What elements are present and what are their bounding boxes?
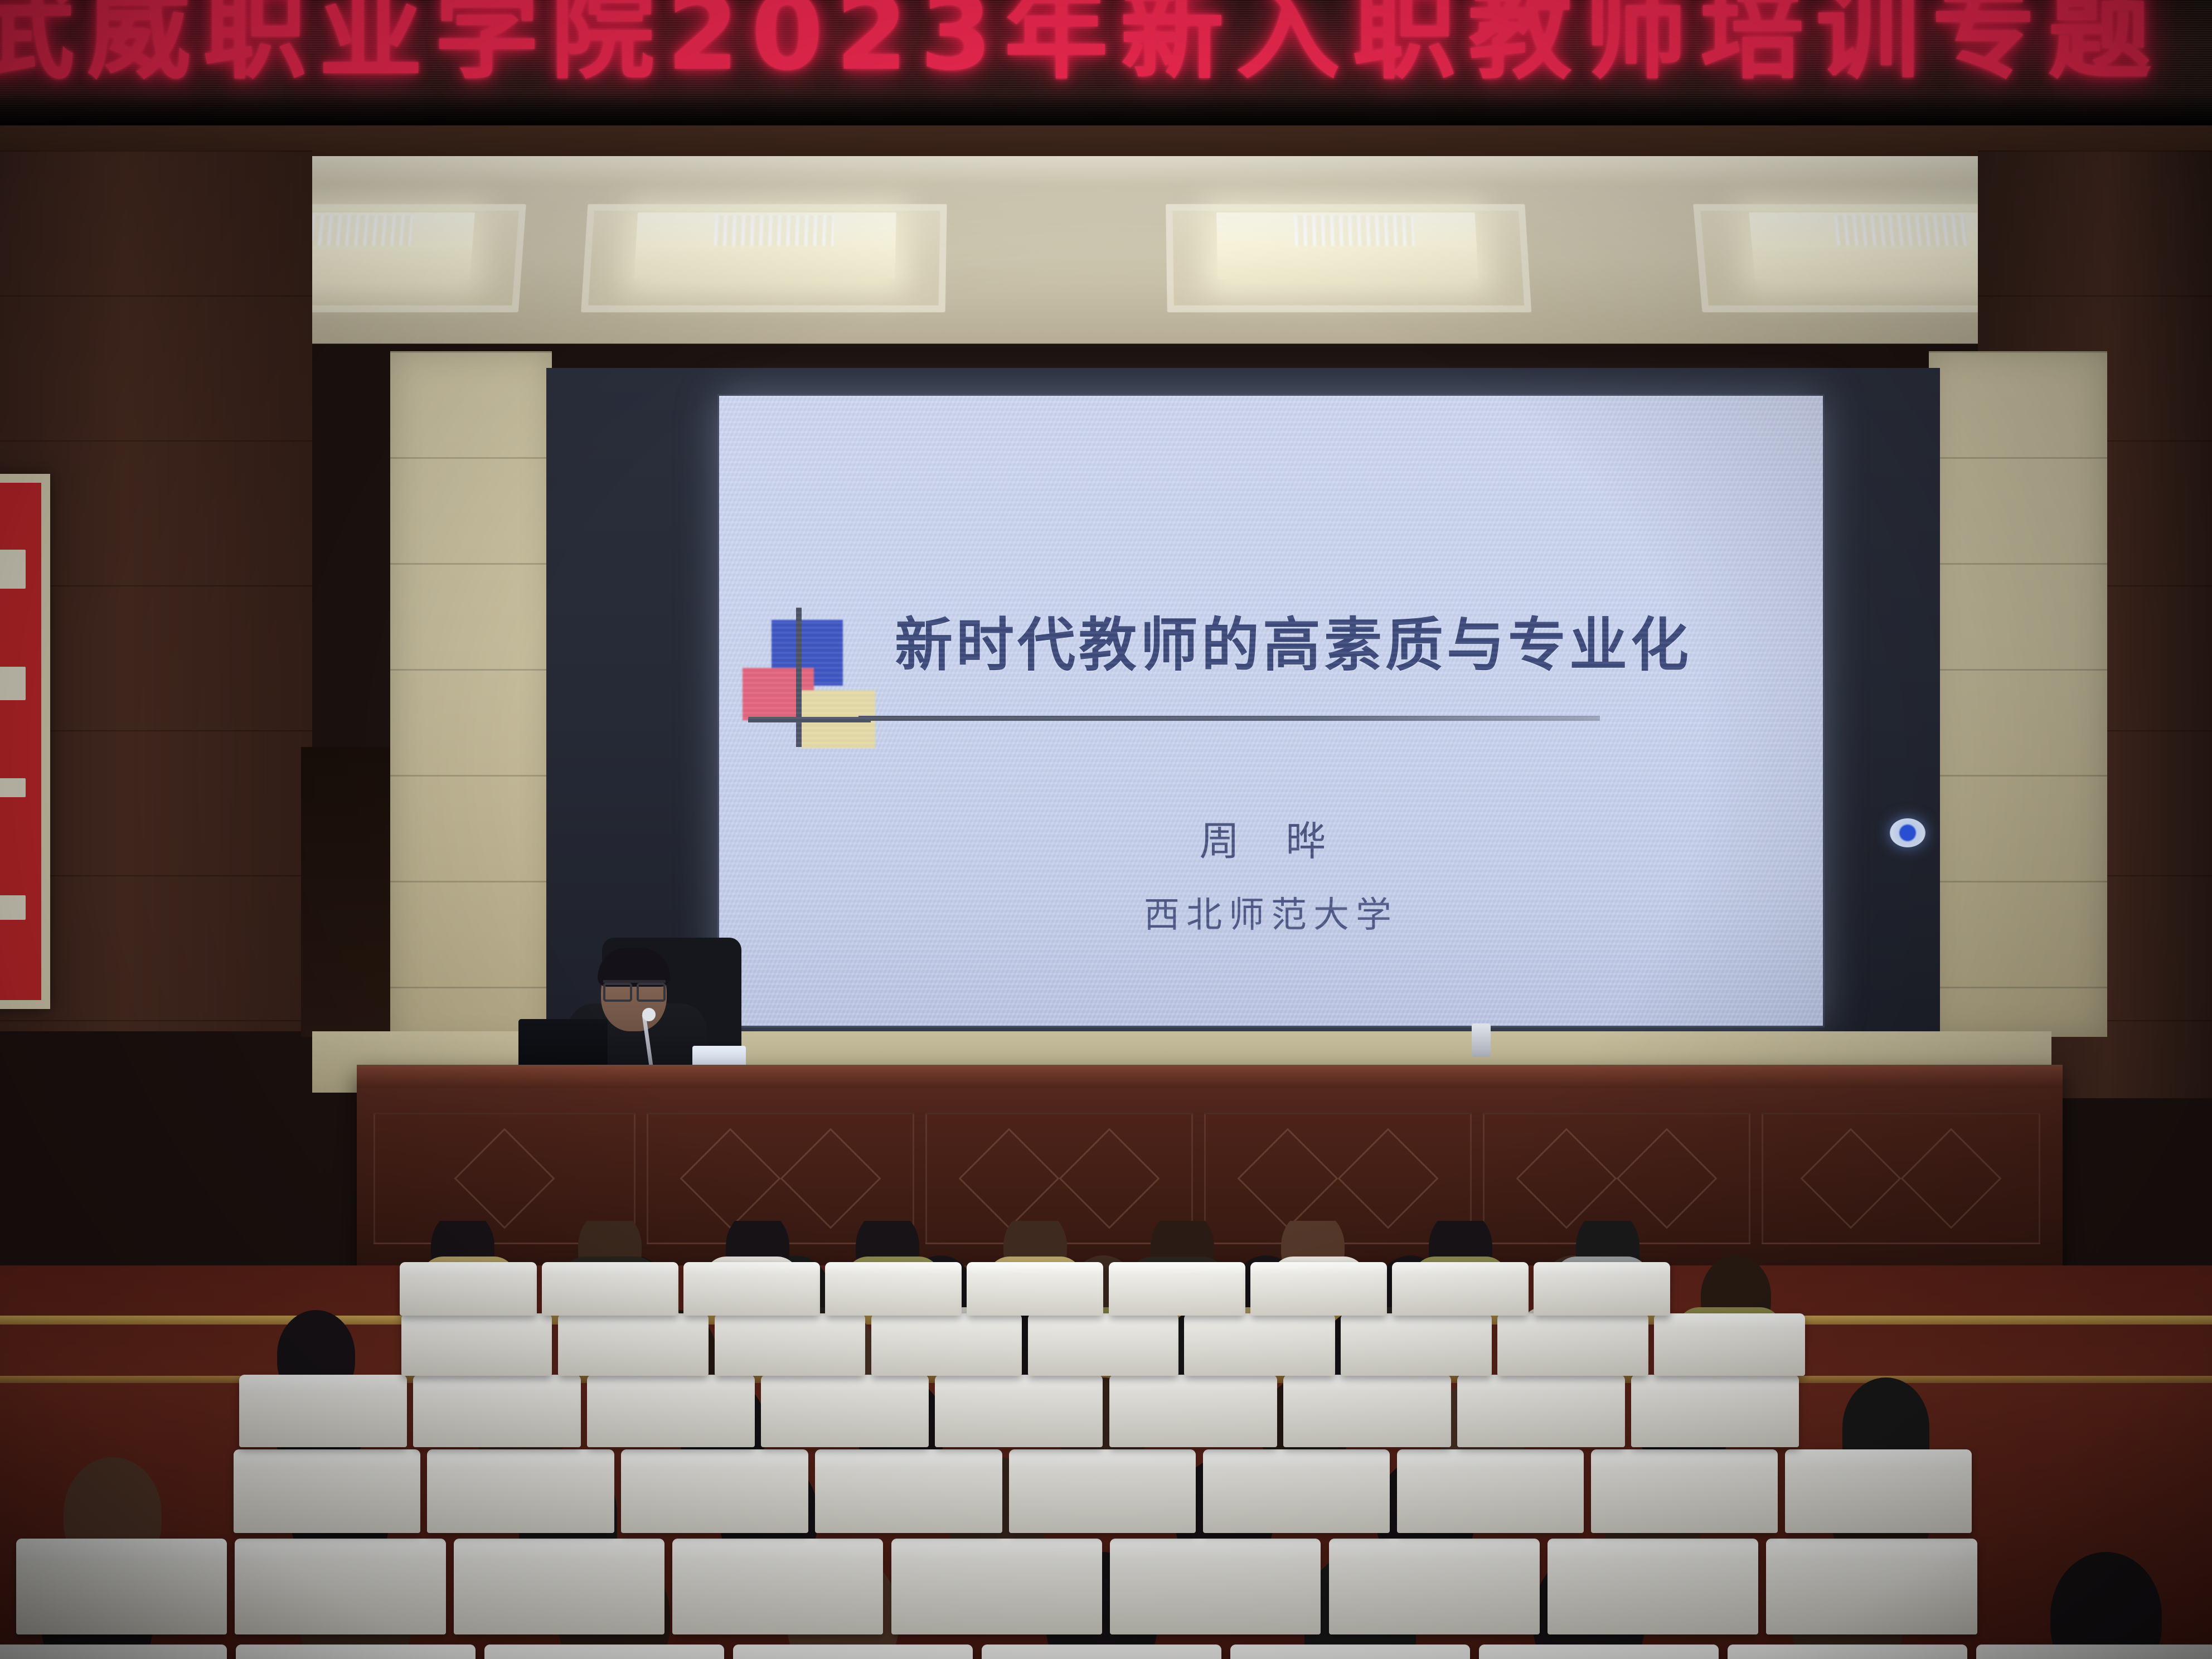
audience-chair: [1009, 1449, 1196, 1533]
banner-shadow: [0, 92, 2212, 125]
audience-chair: [935, 1375, 1103, 1447]
diamond-carving: [1616, 1128, 1717, 1229]
side-door-recess: [301, 747, 401, 1037]
diamond-carving: [1900, 1128, 2001, 1229]
slide-title-rule: [858, 716, 1600, 721]
right-stone-pillar: [1929, 351, 2107, 1037]
audience-chair: [234, 1449, 420, 1533]
audience-chair: [1397, 1449, 1584, 1533]
audience-chair: [672, 1539, 883, 1634]
audience-chair: [16, 1539, 227, 1634]
audience-chair: [1534, 1262, 1670, 1316]
audience-chair: [1479, 1645, 1719, 1659]
motif-horizontal-line: [748, 717, 871, 722]
slide-organization: 西北师范大学: [719, 886, 1823, 938]
audience-chair: [239, 1375, 407, 1447]
banner-glyph: [0, 550, 26, 589]
audience-chair: [427, 1449, 614, 1533]
diamond-carving: [1516, 1128, 1617, 1229]
banner-glyph: [0, 667, 26, 700]
audience-chair: [413, 1375, 581, 1447]
audience-chair: [1497, 1313, 1648, 1376]
left-stone-pillar: [390, 351, 552, 1048]
light-tubes: [714, 215, 834, 246]
audience-chair: [454, 1539, 664, 1634]
audience-chair: [1250, 1262, 1387, 1316]
led-banner: 武威职业学院2023年新入职教师培训专题: [0, 0, 2212, 125]
motif-vertical-line: [796, 608, 802, 747]
audience-chair: [484, 1645, 724, 1659]
audience-chair: [401, 1313, 552, 1376]
banner-glyph: [0, 895, 26, 920]
audience-chair: [1728, 1645, 1967, 1659]
audience-chair: [621, 1449, 808, 1533]
audience-chair: [1329, 1539, 1540, 1634]
lecture-hall-photo: 武威职业学院2023年新入职教师培训专题: [0, 0, 2212, 1659]
audience-chair: [683, 1262, 820, 1316]
ceiling-light-2: [581, 204, 947, 312]
diamond-carving: [680, 1128, 780, 1229]
diamond-carving: [454, 1128, 555, 1229]
podium-top-edge: [357, 1065, 2063, 1088]
banner-glyph: [0, 778, 26, 797]
speaker-at-podium: [535, 925, 747, 1087]
red-wall-banner: [0, 474, 50, 1009]
audience-chair: [542, 1262, 678, 1316]
desk-cup: [1472, 1023, 1491, 1057]
audience-chair: [1654, 1313, 1805, 1376]
audience-chair: [1631, 1375, 1799, 1447]
audience-chair: [982, 1645, 1221, 1659]
light-panel: [634, 212, 896, 279]
audience-chair: [891, 1539, 1102, 1634]
led-banner-text: 武威职业学院2023年新入职教师培训专题: [0, 0, 2164, 85]
hall-interior: 新时代教师的高素质与专业化 周 晔 西北师范大学: [0, 117, 2212, 1659]
audience-chair: [400, 1262, 536, 1316]
audience-chair: [1109, 1375, 1277, 1447]
audience-chair: [815, 1449, 1002, 1533]
ceiling: [47, 156, 2082, 343]
audience-chair: [967, 1262, 1103, 1316]
diamond-carving: [1337, 1128, 1438, 1229]
audience-chair: [871, 1313, 1022, 1376]
audience-chair: [1976, 1645, 2212, 1659]
diamond-carving: [780, 1128, 881, 1229]
light-tubes: [1834, 215, 1968, 246]
audience-chair: [825, 1262, 962, 1316]
projection-screen: 新时代教师的高素质与专业化 周 晔 西北师范大学: [719, 396, 1823, 1026]
microphone-icon: [642, 1008, 656, 1021]
audience-chair: [1766, 1539, 1977, 1634]
ceiling-rail: [69, 156, 2061, 185]
diamond-carving: [1059, 1128, 1160, 1229]
blue-indicator-light-icon: [1890, 818, 1925, 847]
ceiling-light-3: [1166, 204, 1531, 312]
audience-chair: [1785, 1449, 1972, 1533]
slide-decorative-motif: [743, 608, 871, 747]
audience-chair: [1028, 1313, 1179, 1376]
audience-chair: [1283, 1375, 1451, 1447]
glasses-icon: [603, 980, 666, 995]
audience-chair: [1341, 1313, 1492, 1376]
light-tubes: [1294, 215, 1414, 246]
audience-chair: [1110, 1539, 1321, 1634]
audience-chair: [1591, 1449, 1778, 1533]
diamond-carving: [958, 1128, 1059, 1229]
diamond-carving: [1800, 1128, 1901, 1229]
audience-chair: [587, 1375, 755, 1447]
light-panel: [1216, 212, 1479, 279]
audience-chair: [236, 1645, 476, 1659]
audience-seating: [0, 1221, 2212, 1659]
audience-chair: [235, 1539, 445, 1634]
diamond-carving: [1237, 1128, 1338, 1229]
audience-chair: [1109, 1262, 1245, 1316]
audience-chair: [761, 1375, 929, 1447]
audience-chair: [558, 1313, 709, 1376]
audience-chair: [1203, 1449, 1390, 1533]
audience-chair: [733, 1645, 973, 1659]
audience-chair: [1230, 1645, 1470, 1659]
audience-chair: [1548, 1539, 1758, 1634]
audience-chair: [1457, 1375, 1625, 1447]
audience-chair: [1392, 1262, 1529, 1316]
audience-chair: [1184, 1313, 1335, 1376]
slide-title: 新时代教师的高素质与专业化: [895, 613, 1764, 677]
slide-author: 周 晔: [719, 808, 1823, 867]
audience-head: [2050, 1552, 2162, 1659]
audience-chair: [715, 1313, 866, 1376]
audience-chair: [0, 1645, 227, 1659]
